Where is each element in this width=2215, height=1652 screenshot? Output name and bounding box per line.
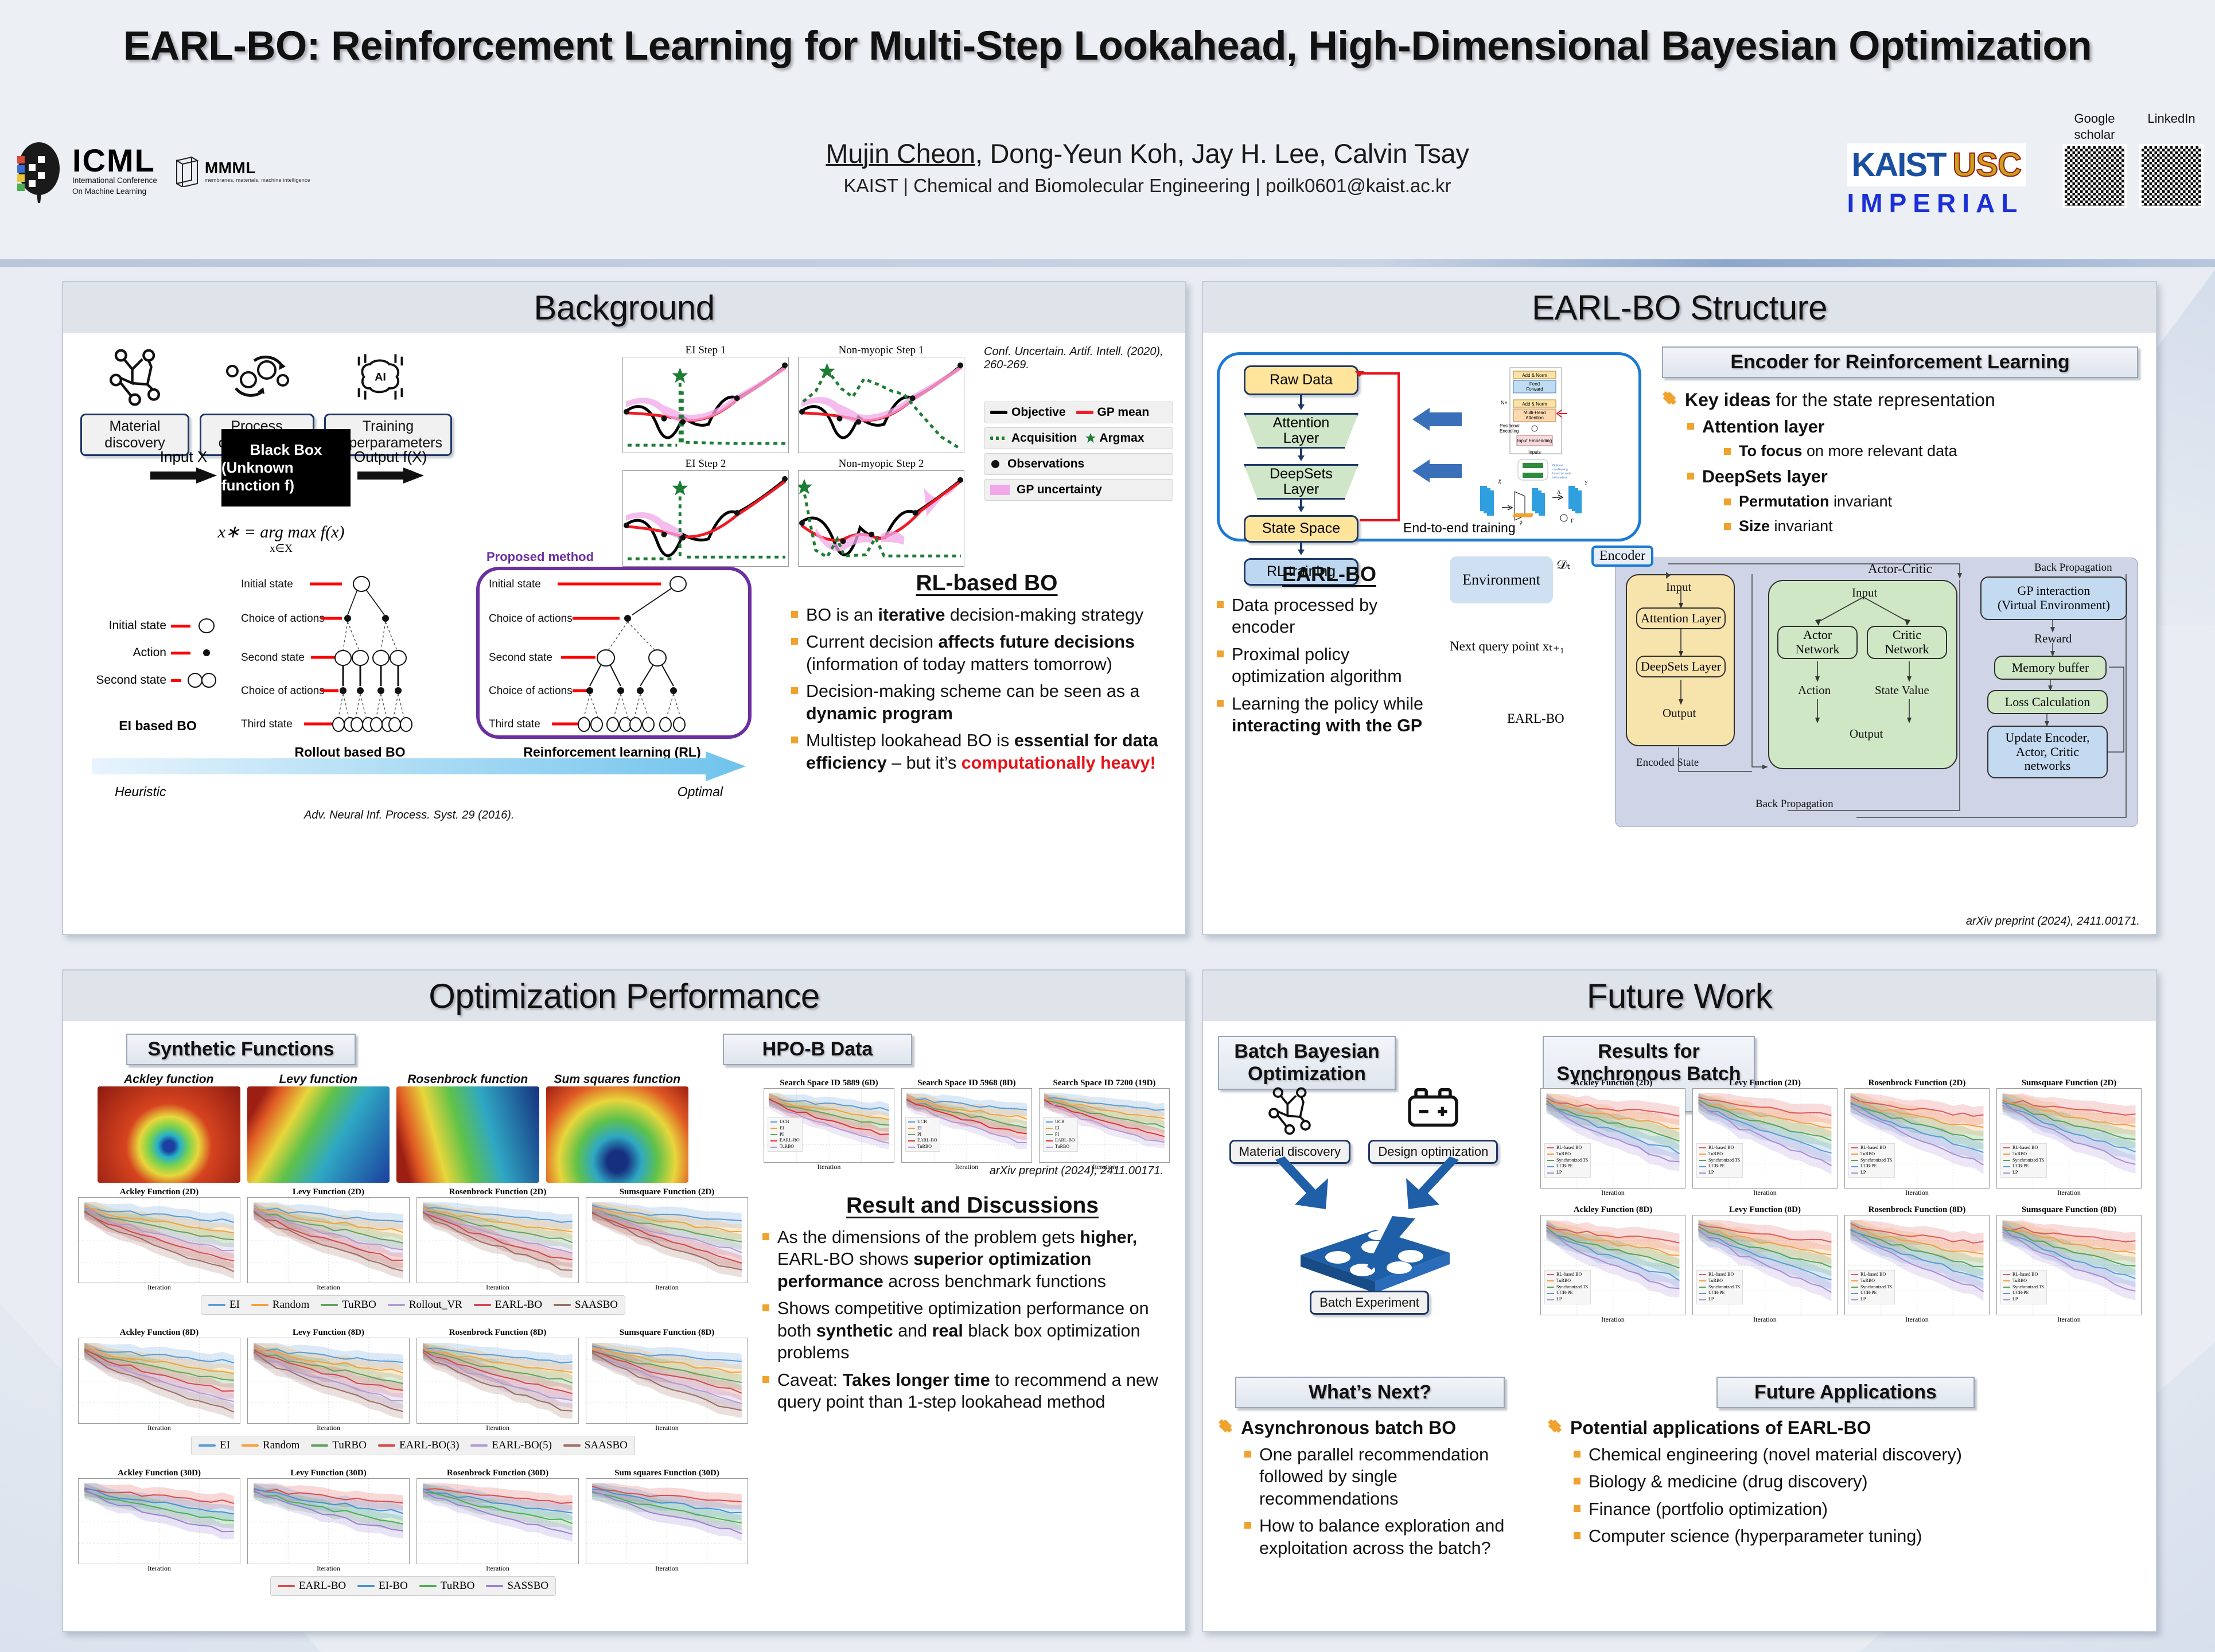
list-item: DeepSets layerPermutation invariantSize … bbox=[1685, 466, 2138, 535]
chart-title: Levy Function (30D) bbox=[247, 1468, 410, 1478]
x-axis-label: Iteration bbox=[764, 1163, 894, 1171]
conference-logos: ICML International Conference On Machine… bbox=[11, 139, 310, 203]
legend-entry: SAASBO bbox=[563, 1439, 628, 1452]
panel-future: Future Work Batch Bayesian Optimization … bbox=[1202, 969, 2157, 1632]
blackbox-input-label: Input X bbox=[149, 448, 218, 466]
arrow-right-icon bbox=[149, 466, 218, 485]
plot-title: Non-myopic Step 1 bbox=[798, 344, 964, 357]
batch-sources: Material discovery Design optimization bbox=[1220, 1084, 1507, 1164]
whats-next-items: One parallel recommendation followed by … bbox=[1242, 1444, 1522, 1559]
plot-title: Non-myopic Step 2 bbox=[798, 458, 964, 470]
node-circle-icon bbox=[195, 618, 218, 633]
plot-nonmyopic-step-1 bbox=[798, 357, 964, 453]
chart-panel: Rosenbrock Function (2D)RL-based BOTuRBO… bbox=[1844, 1078, 1990, 1197]
legend-entry: EI bbox=[208, 1299, 240, 1311]
page-title: EARL-BO: Reinforcement Learning for Mult… bbox=[0, 23, 2215, 69]
chart-title: Sumsquare Function (8D) bbox=[1996, 1205, 2142, 1215]
plots-citation: Conf. Uncertain. Artif. Intell. (2020), … bbox=[984, 345, 1173, 372]
blackbox-input: Input X bbox=[149, 448, 218, 488]
legend-label: GP uncertainty bbox=[1017, 483, 1102, 497]
svg-text:Initial state: Initial state bbox=[241, 578, 293, 590]
panel-title: EARL-BO Structure bbox=[1532, 288, 1827, 328]
list-item: One parallel recommendation followed by … bbox=[1242, 1444, 1522, 1510]
molecule-icon bbox=[1262, 1084, 1317, 1137]
chart-legend: EARL-BOEI-BOTuRBOSASSBO bbox=[270, 1576, 556, 1596]
legend-entry: EI bbox=[198, 1439, 230, 1452]
rl-bo-bullets: BO is an iterative decision-making strat… bbox=[789, 604, 1185, 774]
chart-title: Sum squares Function (30D) bbox=[586, 1468, 748, 1478]
chart-title: Rosenbrock Function (30D) bbox=[416, 1468, 579, 1478]
icml-mark-icon bbox=[11, 139, 67, 203]
list-item: Biology & medicine (drug discovery) bbox=[1571, 1471, 2144, 1493]
qr-linkedin[interactable]: LinkedIn bbox=[2139, 112, 2204, 208]
applications-lead: Potential applications of EARL-BO bbox=[1547, 1416, 2144, 1439]
surface-rosenbrock bbox=[396, 1086, 539, 1183]
chart-title: Search Space ID 7200 (19D) bbox=[1039, 1078, 1170, 1088]
mmml-logo: MMML membranes, materials, machine intel… bbox=[172, 155, 310, 187]
architecture-diagram: Encoder Input Attention Layer DeepSets L… bbox=[1615, 558, 2138, 827]
list-item: Caveat: Takes longer time to recommend a… bbox=[760, 1369, 1185, 1413]
node-dot-icon bbox=[195, 647, 218, 659]
list-item: Current decision affects future decision… bbox=[789, 631, 1185, 675]
tree-ei-based-bo: Initial state Action Second state bbox=[86, 618, 229, 734]
encoder-card-title: Encoder for Reinforcement Learning bbox=[1662, 346, 2138, 378]
batch-experiment-label: Batch Experiment bbox=[1310, 1291, 1429, 1315]
list-item: Multistep lookahead BO is essential for … bbox=[789, 730, 1185, 774]
x-axis-label: Iteration bbox=[1996, 1189, 2142, 1197]
legend-entry: Random bbox=[251, 1299, 309, 1311]
equation-main: x∗ = arg max f(x) bbox=[195, 522, 367, 542]
svg-text:Optional: Optional bbox=[1552, 464, 1563, 467]
legend-entry: EARL-BO(3) bbox=[378, 1439, 459, 1452]
legend-label: Acquisition bbox=[1011, 431, 1077, 445]
legend-swatch-acquisition bbox=[990, 437, 1007, 440]
blackbox-output-label: Output f(X) bbox=[354, 448, 427, 466]
chart-panel: Rosenbrock Function (8D)10^610^510^410^3… bbox=[416, 1328, 579, 1432]
chart-panel: Rosenbrock Function (2D)10^210^110^010^-… bbox=[416, 1187, 579, 1292]
tree-caption: EI based BO bbox=[86, 718, 229, 734]
proposed-method-label: Proposed method bbox=[486, 550, 594, 564]
cube-icon bbox=[172, 155, 201, 187]
blackbox-output: Output f(X) bbox=[354, 448, 427, 488]
deepsets-diagram: Optional conditioning based on meta info… bbox=[1472, 458, 1604, 530]
panel-header-background: Background bbox=[63, 282, 1185, 333]
chart-panel: Search Space ID 5889 (6D)UCBEIPIEARL-BOT… bbox=[764, 1078, 894, 1171]
plot-ei-step-2 bbox=[622, 470, 789, 567]
batch-bo-header: Batch Bayesian Optimization bbox=[1218, 1036, 1396, 1090]
chart-panel: Levy Function (2D)10^010^-110^-2Iteratio… bbox=[247, 1187, 410, 1292]
arrow-right-icon bbox=[356, 466, 425, 485]
panel-background: Background Material discovery bbox=[62, 281, 1186, 935]
x-axis-label: Iteration bbox=[1844, 1189, 1990, 1197]
chart-panel: Sumsquare Function (8D)RL-based BOTuRBOS… bbox=[1996, 1205, 2142, 1324]
hpob-charts: Search Space ID 5889 (6D)UCBEIPIEARL-BOT… bbox=[760, 1078, 1173, 1171]
panel-title: Future Work bbox=[1587, 976, 1772, 1016]
x-axis-label: Iteration bbox=[586, 1424, 748, 1432]
observation-dot-icon bbox=[990, 459, 1001, 469]
chart-title: Rosenbrock Function (8D) bbox=[416, 1328, 579, 1338]
encoder-items: Attention layerTo focus on more relevant… bbox=[1685, 416, 2138, 536]
svg-text:Choice of actions: Choice of actions bbox=[489, 685, 573, 697]
x-axis-label: Iteration bbox=[1692, 1189, 1838, 1197]
list-item: BO is an iterative decision-making strat… bbox=[789, 604, 1185, 626]
synthetic-30d-row: Ackley Function (30D)IterationLevy Funct… bbox=[75, 1468, 752, 1596]
x-axis-label: Iteration bbox=[247, 1283, 410, 1292]
chart-panel: Levy Function (8D)10^210^110^0Iteration bbox=[247, 1328, 410, 1432]
x-axis-label: Iteration bbox=[78, 1564, 240, 1573]
chart-title: Levy Function (2D) bbox=[1692, 1078, 1838, 1088]
surface-plots: Ackley function Levy function Rosenbrock… bbox=[98, 1073, 688, 1183]
list-item: Finance (portfolio optimization) bbox=[1571, 1498, 2144, 1520]
legend-entry: SASSBO bbox=[486, 1580, 548, 1592]
mmml-subtitle: membranes, materials, machine intelligen… bbox=[205, 177, 310, 183]
svg-text:AI: AI bbox=[375, 371, 386, 384]
kaist-logo: KAIST bbox=[1852, 146, 1946, 184]
rl-based-bo-section: RL-based BO BO is an iterative decision-… bbox=[789, 571, 1185, 779]
qr-code-image[interactable] bbox=[2139, 144, 2204, 208]
surface-caption: Ackley function bbox=[98, 1073, 240, 1086]
svg-text:Γ: Γ bbox=[1571, 518, 1574, 524]
chart-panel: Rosenbrock Function (30D)10^710^6Iterati… bbox=[416, 1468, 579, 1573]
qr-label-line1: Google bbox=[2062, 112, 2127, 125]
hpob-header: HPO-B Data bbox=[723, 1034, 912, 1065]
chart-panel: Levy Function (8D)RL-based BOTuRBOSynchr… bbox=[1692, 1205, 1838, 1324]
star-icon bbox=[1085, 433, 1096, 444]
x-axis-label: Iteration bbox=[1844, 1315, 1990, 1324]
chart-inline-legend: UCBEIPIEARL-BOTuRBO bbox=[1043, 1117, 1078, 1152]
next-query-label: Next query point xₜ₊₁ bbox=[1450, 639, 1610, 654]
chart-panel: Ackley Function (2D)10^110^010^-1Iterati… bbox=[78, 1187, 240, 1292]
surface-caption: Sum squares function bbox=[546, 1073, 689, 1086]
svg-text:Positional: Positional bbox=[1500, 423, 1520, 428]
chart-legend: EIRandomTuRBOEARL-BO(3)EARL-BO(5)SAASBO bbox=[191, 1436, 635, 1455]
whats-next-section: What’s Next? Asynchronous batch BO One p… bbox=[1218, 1377, 1522, 1564]
chart-inline-legend: RL-based BOTuRBOSynchronized TSUCB-PELP bbox=[1848, 1270, 1895, 1304]
list-item: Asynchronous batch BO bbox=[1218, 1416, 1522, 1439]
x-axis-label: Iteration bbox=[416, 1564, 579, 1573]
chart-title: Sumsquare Function (2D) bbox=[586, 1187, 748, 1197]
ai-brain-icon: AI bbox=[349, 345, 412, 408]
end-to-end-loop bbox=[1334, 357, 1415, 529]
plot-title: EI Step 1 bbox=[622, 344, 789, 357]
list-item: Chemical engineering (novel material dis… bbox=[1571, 1444, 2144, 1466]
svg-text:Y: Y bbox=[1585, 480, 1588, 486]
mmml-wordmark: MMML bbox=[205, 159, 310, 177]
legend-label: Objective bbox=[1011, 406, 1066, 419]
molecule-icon bbox=[103, 345, 166, 408]
whats-next-header: What’s Next? bbox=[1235, 1377, 1505, 1408]
tree-row-label: Second state bbox=[86, 673, 166, 687]
legend-label: GP mean bbox=[1097, 406, 1150, 419]
blackbox-subtitle: (Unknown function f) bbox=[221, 459, 351, 494]
environment-box: Environment bbox=[1450, 556, 1553, 603]
chart-inline-legend: RL-based BOTuRBOSynchronized TSUCB-PELP bbox=[1696, 1143, 1743, 1178]
x-axis-label: Iteration bbox=[416, 1424, 579, 1432]
battery-icon bbox=[1404, 1084, 1462, 1137]
icml-wordmark: ICML bbox=[72, 145, 157, 176]
tree-rollout-based-bo: Initial stateChoice of actions Second st… bbox=[241, 574, 482, 760]
legend-entry: EARL-BO bbox=[278, 1580, 346, 1592]
imperial-logo: IMPERIAL bbox=[1847, 188, 2026, 219]
qr-label-line1: LinkedIn bbox=[2139, 112, 2204, 125]
icml-logo: ICML International Conference On Machine… bbox=[11, 139, 157, 203]
chart-panel: Rosenbrock Function (8D)RL-based BOTuRBO… bbox=[1844, 1205, 1990, 1324]
svg-text:Encoding: Encoding bbox=[1500, 428, 1519, 434]
section-title: EARL-BO bbox=[1214, 562, 1444, 586]
icml-subtitle-2: On Machine Learning bbox=[72, 186, 157, 197]
node-pair-icon bbox=[186, 672, 218, 688]
svg-text:information: information bbox=[1552, 476, 1567, 480]
transformer-diagram: Add & Norm Feed Forward Add & Norm Multi… bbox=[1476, 364, 1596, 459]
equation-sub: x∈X bbox=[195, 542, 367, 555]
arrow-label-right: Optimal bbox=[678, 784, 723, 800]
svg-text:Choice of actions: Choice of actions bbox=[489, 613, 573, 625]
legend-label: Observations bbox=[1007, 457, 1084, 471]
author-names: Mujin Cheon, Dong-Yeun Koh, Jay H. Lee, … bbox=[660, 138, 1635, 169]
svg-text:Λ: Λ bbox=[1557, 489, 1561, 495]
hpob-citation: arXiv preprint (2024), 2411.00171. bbox=[990, 1164, 1163, 1178]
panel-title: Background bbox=[534, 288, 714, 328]
legend-swatch-gp-uncertainty bbox=[990, 485, 1010, 495]
x-axis-label: Iteration bbox=[1540, 1315, 1685, 1324]
chart-title: Ackley Function (2D) bbox=[78, 1187, 240, 1197]
qr-code-image[interactable] bbox=[2062, 144, 2127, 208]
legend-entry: EI-BO bbox=[357, 1580, 408, 1592]
svg-text:Add & Norm: Add & Norm bbox=[1522, 402, 1547, 407]
svg-text:Second state: Second state bbox=[241, 652, 305, 664]
encoder-card: Encoder for Reinforcement Learning Key i… bbox=[1662, 346, 2138, 541]
results-bullets: As the dimensions of the problem gets hi… bbox=[760, 1226, 1185, 1413]
legend-label: Argmax bbox=[1099, 431, 1144, 445]
svg-text:Third state: Third state bbox=[241, 718, 293, 730]
panel-title: Optimization Performance bbox=[429, 976, 820, 1016]
section-title: Result and Discussions bbox=[760, 1193, 1185, 1218]
list-item: Decision-making scheme can be seen as a … bbox=[789, 680, 1185, 724]
legend-entry: EARL-BO bbox=[474, 1299, 542, 1311]
chart-panel: Levy Function (2D)RL-based BOTuRBOSynchr… bbox=[1692, 1078, 1838, 1197]
list-item: To focus on more relevant data bbox=[1722, 441, 2138, 461]
chart-legend: EIRandomTuRBORollout_VREARL-BOSAASBO bbox=[201, 1295, 625, 1315]
earl-bo-diagram-label: EARL-BO bbox=[1507, 711, 1610, 726]
section-title: RL-based BO bbox=[789, 571, 1185, 596]
svg-text:Add & Norm: Add & Norm bbox=[1522, 373, 1547, 378]
plots-sidebar: Conf. Uncertain. Artif. Intell. (2020), … bbox=[984, 345, 1173, 501]
svg-text:N×: N× bbox=[1501, 400, 1508, 406]
svg-text:Third state: Third state bbox=[489, 718, 540, 730]
tree-row-label: Action bbox=[86, 646, 166, 660]
batch-results-charts: Ackley Function (2D)RL-based BOTuRBOSync… bbox=[1537, 1078, 2145, 1332]
svg-text:Forward: Forward bbox=[1526, 387, 1543, 392]
chart-inline-legend: RL-based BOTuRBOSynchronized TSUCB-PELP bbox=[1696, 1270, 1743, 1304]
synthetic-8d-row: Ackley Function (8D)IterationLevy Functi… bbox=[75, 1328, 752, 1455]
architecture-wires bbox=[1615, 558, 2139, 828]
panel-optimization: Optimization Performance Synthetic Funct… bbox=[62, 969, 1186, 1632]
svg-text:Multi-Head: Multi-Head bbox=[1524, 410, 1546, 415]
x-axis-label: Iteration bbox=[1692, 1315, 1838, 1324]
chart-title: Sumsquare Function (8D) bbox=[586, 1328, 748, 1338]
chart-inline-legend: RL-based BOTuRBOSynchronized TSUCB-PELP bbox=[2000, 1143, 2047, 1178]
earl-bo-section: EARL-BO Data processed by encoderProxima… bbox=[1214, 562, 1444, 742]
plot-nonmyopic-step-2 bbox=[798, 470, 964, 567]
qr-label-line2: scholar bbox=[2062, 128, 2127, 141]
environment-block: Environment Next query point xₜ₊₁ EARL-B… bbox=[1450, 556, 1610, 726]
chart-title: Rosenbrock Function (2D) bbox=[1844, 1078, 1990, 1088]
surface-caption: Rosenbrock function bbox=[396, 1073, 539, 1086]
list-item: Potential applications of EARL-BO bbox=[1547, 1416, 2144, 1439]
x-axis-label: Iteration bbox=[247, 1424, 410, 1432]
list-item: How to balance exploration and exploitat… bbox=[1242, 1515, 1522, 1559]
header-divider bbox=[0, 259, 2215, 267]
chart-title: Rosenbrock Function (8D) bbox=[1844, 1205, 1990, 1215]
chart-panel: Search Space ID 7200 (19D)UCBEIPIEARL-BO… bbox=[1039, 1078, 1170, 1171]
list-item: Data processed by encoder bbox=[1214, 594, 1444, 638]
myopic-comparison-plots: EI Step 1 Non-my bbox=[622, 344, 972, 567]
chart-title: Ackley Function (2D) bbox=[1540, 1078, 1685, 1088]
surface-ackley bbox=[98, 1086, 240, 1183]
chart-title: Sumsquare Function (2D) bbox=[1996, 1078, 2142, 1088]
arrow-left-icon bbox=[1412, 459, 1462, 482]
chart-title: Search Space ID 5968 (8D) bbox=[901, 1078, 1032, 1088]
legend-entry: SAASBO bbox=[554, 1299, 618, 1311]
list-item: Shows competitive optimization performan… bbox=[760, 1298, 1185, 1363]
legend-entry: EARL-BO(5) bbox=[470, 1439, 551, 1452]
chart-title: Levy Function (8D) bbox=[247, 1328, 410, 1338]
future-applications-header: Future Applications bbox=[1716, 1377, 1975, 1408]
legend-entry: Rollout_VR bbox=[388, 1299, 462, 1311]
legend-entry: TuRBO bbox=[419, 1580, 475, 1592]
x-axis-label: Iteration bbox=[78, 1283, 240, 1292]
list-item: Computer science (hyperparameter tuning) bbox=[1571, 1525, 2144, 1547]
gears-icon bbox=[220, 345, 294, 408]
icml-subtitle-1: International Conference bbox=[72, 176, 157, 186]
blackbox: Black Box (Unknown function f) bbox=[221, 429, 351, 506]
x-axis-label: Iteration bbox=[1540, 1189, 1685, 1197]
panel-header-optimization: Optimization Performance bbox=[63, 971, 1185, 1021]
chart-panel: Levy Function (30D)6×10²4×10²3×10²2×10²I… bbox=[247, 1468, 410, 1573]
x-axis-label: Iteration bbox=[586, 1564, 748, 1573]
chart-panel: Sumsquare Function (2D)10^010^-210^-410^… bbox=[586, 1187, 748, 1292]
institution-logos: KAIST USC IMPERIAL bbox=[1847, 143, 2026, 219]
x-axis-label: Iteration bbox=[78, 1424, 240, 1432]
chart-title: Ackley Function (8D) bbox=[78, 1328, 240, 1338]
affiliation: KAIST | Chemical and Biomolecular Engine… bbox=[660, 175, 1635, 197]
plot-ei-step-1 bbox=[622, 357, 789, 453]
other-authors: , Dong-Yeun Koh, Jay H. Lee, Calvin Tsay bbox=[975, 138, 1469, 169]
list-item: Proximal policy optimization algorithm bbox=[1214, 644, 1444, 688]
chart-title: Levy Function (8D) bbox=[1692, 1205, 1838, 1215]
qr-google-scholar[interactable]: Google scholar bbox=[2062, 112, 2127, 208]
svg-text:Second state: Second state bbox=[489, 652, 552, 664]
first-author: Mujin Cheon bbox=[826, 138, 975, 169]
svg-text:Input Embedding: Input Embedding bbox=[1517, 438, 1552, 443]
chart-inline-legend: RL-based BOTuRBOSynchronized TSUCB-PELP bbox=[1848, 1143, 1895, 1178]
list-item: As the dimensions of the problem gets hi… bbox=[760, 1226, 1185, 1292]
well-plate-icon bbox=[1278, 1210, 1461, 1296]
chart-title: Levy Function (2D) bbox=[247, 1187, 410, 1197]
list-item: Key ideas for the state representation bbox=[1662, 388, 2138, 411]
objective-equation: x∗ = arg max f(x) x∈X bbox=[195, 522, 367, 555]
plot-title: EI Step 2 bbox=[622, 458, 789, 470]
list-item: Size invariant bbox=[1722, 516, 2138, 536]
svg-text:Initial state: Initial state bbox=[489, 578, 541, 590]
earl-bo-bullets: Data processed by encoderProximal policy… bbox=[1214, 594, 1444, 737]
chart-panel: Ackley Function (8D)Iteration bbox=[78, 1328, 240, 1432]
panel-header-structure: EARL-BO Structure bbox=[1203, 282, 2156, 333]
svg-text:Inputs: Inputs bbox=[1528, 450, 1541, 455]
svg-text:X: X bbox=[1497, 479, 1502, 485]
chart-title: Rosenbrock Function (2D) bbox=[416, 1187, 579, 1197]
synthetic-2d-row: Ackley Function (2D)10^110^010^-1Iterati… bbox=[75, 1187, 752, 1315]
chart-title: Ackley Function (30D) bbox=[78, 1468, 240, 1478]
x-axis-label: Iteration bbox=[1996, 1315, 2142, 1324]
chart-inline-legend: RL-based BOTuRBOSynchronized TSUCB-PELP bbox=[1544, 1270, 1591, 1304]
svg-text:Feed: Feed bbox=[1529, 381, 1540, 387]
legend-entry: TuRBO bbox=[311, 1439, 367, 1452]
whats-next-lead: Asynchronous batch BO bbox=[1218, 1416, 1522, 1439]
x-axis-label: Iteration bbox=[416, 1283, 579, 1292]
svg-text:conditioning: conditioning bbox=[1552, 468, 1568, 472]
chart-panel: Sum squares Function (30D)10^4Iteration bbox=[586, 1468, 748, 1573]
arrow-down-icon bbox=[1244, 543, 1358, 555]
svg-text:Attention: Attention bbox=[1525, 415, 1544, 420]
arrow-left-icon bbox=[1412, 408, 1462, 431]
chart-inline-legend: RL-based BOTuRBOSynchronized TSUCB-PELP bbox=[2000, 1270, 2047, 1304]
chart-title: Search Space ID 5889 (6D) bbox=[764, 1078, 894, 1088]
chart-panel: Ackley Function (8D)RL-based BOTuRBOSync… bbox=[1540, 1205, 1685, 1324]
chart-inline-legend: UCBEIPIEARL-BOTuRBO bbox=[905, 1117, 940, 1152]
chart-panel: Ackley Function (30D)Iteration bbox=[78, 1468, 240, 1573]
svg-text:ϕ: ϕ bbox=[1520, 519, 1523, 525]
legend-swatch-gp-mean bbox=[1076, 411, 1093, 414]
chart-panel: Sumsquare Function (8D)10^310^210^110^01… bbox=[586, 1328, 748, 1432]
svg-text:based on meta: based on meta bbox=[1552, 472, 1571, 476]
batch-experiment-block: Batch Experiment bbox=[1266, 1210, 1473, 1315]
authors-block: Mujin Cheon, Dong-Yeun Koh, Jay H. Lee, … bbox=[660, 138, 1635, 197]
svg-text:Choice of actions: Choice of actions bbox=[241, 613, 325, 625]
pipeline-bubble: Raw Data Attention Layer DeepSets Layer … bbox=[1217, 352, 1641, 541]
usc-logo: USC bbox=[1953, 146, 2021, 184]
applications-items: Chemical engineering (novel material dis… bbox=[1571, 1444, 2144, 1548]
blackbox-title: Black Box bbox=[250, 441, 322, 459]
synthetic-functions-header: Synthetic Functions bbox=[126, 1034, 356, 1065]
chart-inline-legend: RL-based BOTuRBOSynchronized TSUCB-PELP bbox=[1544, 1143, 1591, 1178]
tree-rl-based-bo: Initial stateChoice of actions Second st… bbox=[489, 574, 735, 776]
arrow-label-left: Heuristic bbox=[115, 784, 166, 800]
list-item: Learning the policy while interacting wi… bbox=[1214, 693, 1444, 737]
panel-header-future: Future Work bbox=[1203, 971, 2156, 1021]
qr-codes: Google scholar LinkedIn bbox=[2062, 112, 2204, 208]
chart-panel: Search Space ID 5968 (8D)UCBEIPIEARL-BOT… bbox=[901, 1078, 1032, 1171]
trees-citation: Adv. Neural Inf. Process. Syst. 29 (2016… bbox=[304, 809, 514, 822]
panel-structure: EARL-BO Structure Raw Data Attention Lay… bbox=[1202, 281, 2157, 935]
future-applications-section: Future Applications Potential applicatio… bbox=[1547, 1377, 2144, 1553]
x-axis-label: Iteration bbox=[586, 1283, 748, 1292]
chart-panel: Ackley Function (2D)RL-based BOTuRBOSync… bbox=[1540, 1078, 1685, 1197]
surface-caption: Levy function bbox=[247, 1073, 390, 1086]
structure-citation: arXiv preprint (2024), 2411.00171. bbox=[1966, 915, 2140, 928]
chart-title: Ackley Function (8D) bbox=[1540, 1205, 1685, 1215]
chart-inline-legend: UCBEIPIEARL-BOTuRBO bbox=[768, 1117, 803, 1152]
chart-panel: Sumsquare Function (2D)RL-based BOTuRBOS… bbox=[1996, 1078, 2142, 1197]
heuristic-optimal-arrow: Heuristic Optimal bbox=[92, 751, 746, 800]
svg-text:Choice of actions: Choice of actions bbox=[241, 685, 325, 697]
legend-entry: Random bbox=[242, 1439, 299, 1452]
dataset-symbol: 𝒟ₜ bbox=[1556, 558, 1571, 572]
legend-entry: TuRBO bbox=[321, 1299, 376, 1311]
list-item: Attention layerTo focus on more relevant… bbox=[1685, 416, 2138, 461]
surface-sumsquares bbox=[546, 1086, 689, 1183]
list-item: Permutation invariant bbox=[1722, 492, 2138, 511]
